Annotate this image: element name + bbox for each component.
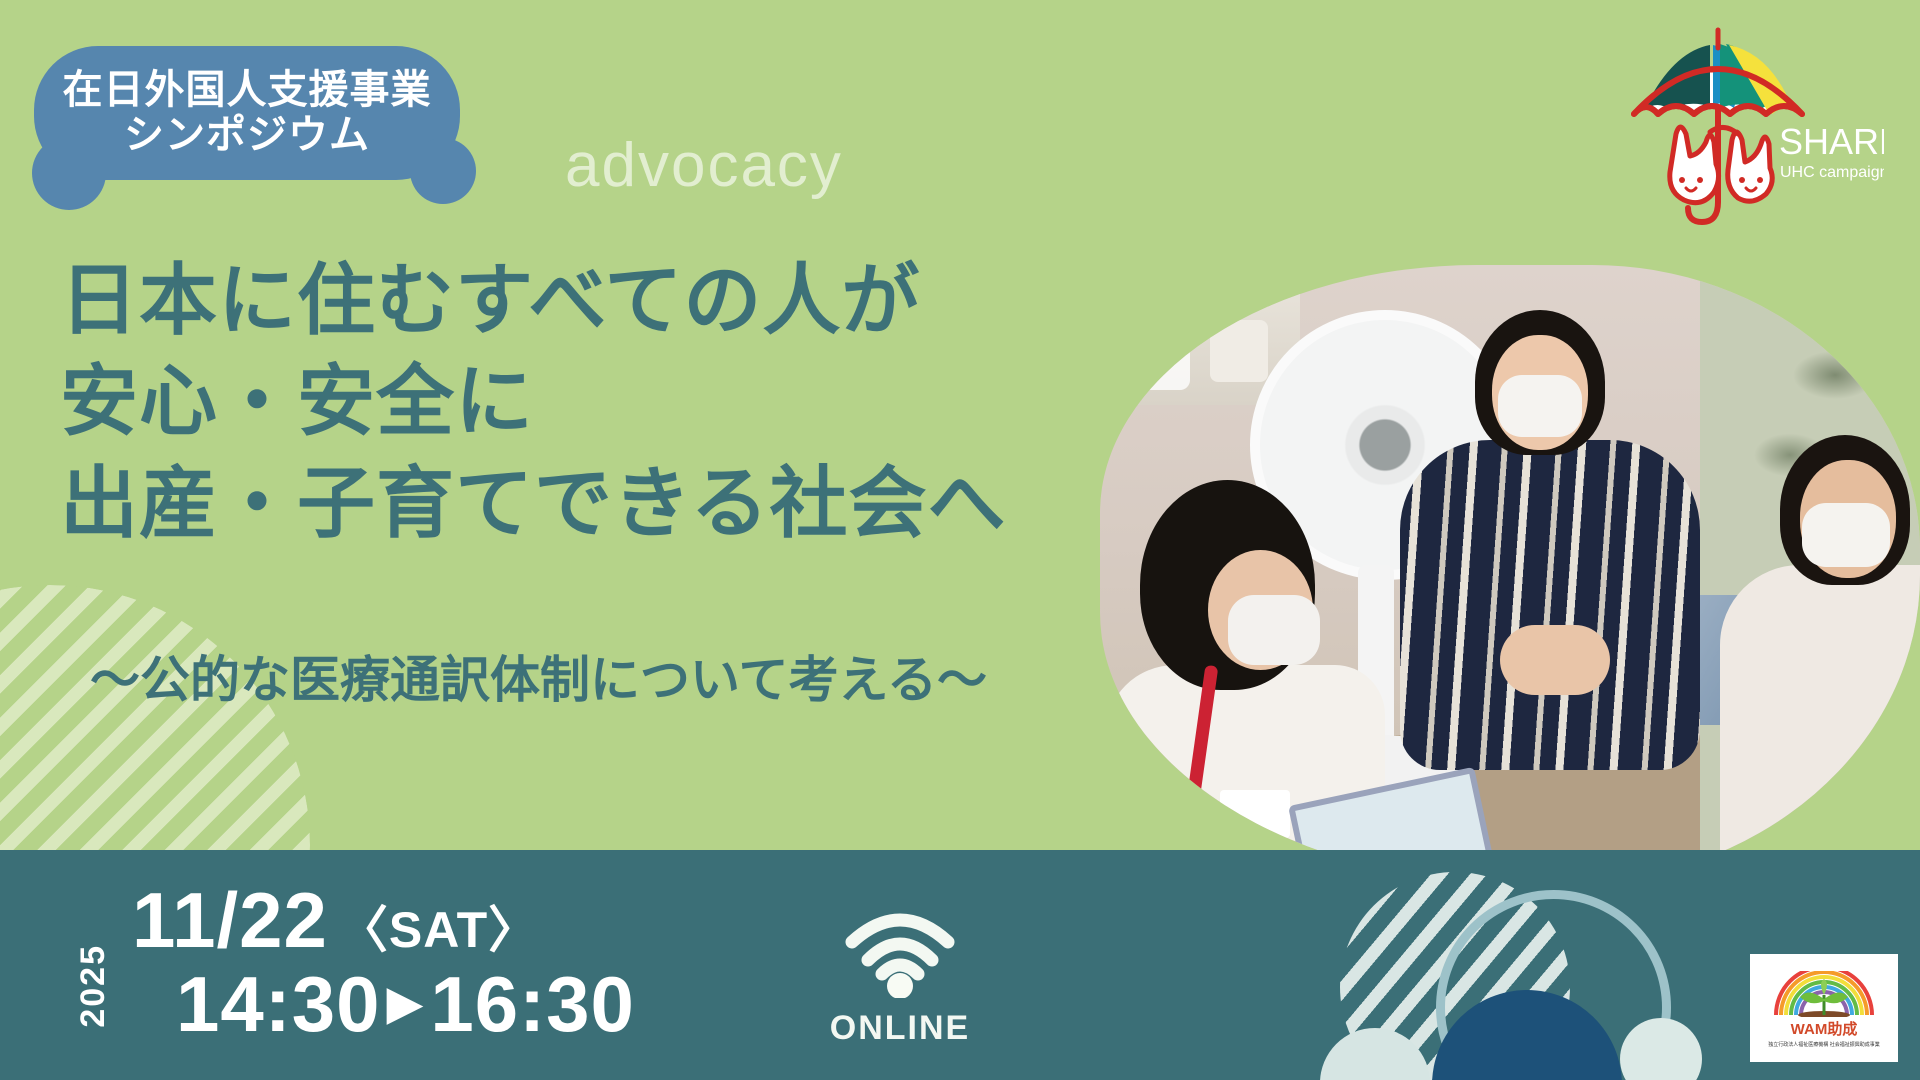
wam-logo: WAM助成 独立行政法人福祉医療機構 社会福祉振興助成事業 — [1750, 954, 1898, 1062]
share-tagline: UHC campaign — [1780, 164, 1884, 181]
photo-person-center-hands — [1500, 625, 1610, 695]
event-time-row: 14:30 ▶ 16:30 — [132, 962, 635, 1046]
photo-background — [1100, 265, 1920, 885]
share-wordmark: SHARE — [1779, 121, 1884, 162]
wam-mark: WAM — [1791, 1021, 1828, 1038]
wifi-icon — [844, 912, 956, 998]
share-umbrella-icon: SHARE UHC campaign — [1614, 22, 1884, 237]
event-photo — [1100, 265, 1920, 885]
page-subtitle: 〜公的な医療通訳体制について考える〜 — [90, 640, 987, 712]
event-time-end: 16:30 — [430, 962, 635, 1046]
event-date-row: 11/22 〈SAT〉 — [132, 880, 635, 962]
time-arrow-icon: ▶ — [387, 980, 425, 1028]
event-year: 2025 — [74, 944, 113, 1028]
photo-person-left-mask — [1228, 595, 1320, 665]
poster-canvas: 在日外国人支援事業 シンポジウム advocacy 日本に住むすべての人が 安心… — [0, 0, 1920, 1080]
photo-person-center-body — [1400, 440, 1700, 770]
photo-person-right-mask — [1802, 503, 1890, 567]
wam-logo-subtitle: 独立行政法人福祉医療機構 社会福祉振興助成事業 — [1768, 1041, 1879, 1048]
online-label: ONLINE — [795, 1009, 1005, 1048]
headline-line-1: 日本に住むすべての人が — [60, 250, 1006, 351]
page-title: 日本に住むすべての人が 安心・安全に 出産・子育てできる社会へ — [60, 250, 1006, 554]
event-day-of-week: 〈SAT〉 — [338, 904, 539, 957]
photo-cup — [1210, 320, 1268, 382]
photo-name-badge — [1220, 790, 1290, 838]
badge-line-1: 在日外国人支援事業 — [63, 68, 432, 113]
event-time-start: 14:30 — [176, 962, 381, 1046]
photo-person-center-mask — [1498, 375, 1582, 437]
event-date: 11/22 — [132, 880, 328, 962]
wam-grant-label: 助成 — [1827, 1021, 1857, 1038]
photo-person-right-body — [1720, 565, 1920, 885]
headline-line-2: 安心・安全に — [60, 351, 1006, 452]
share-logo: SHARE UHC campaign — [1614, 22, 1884, 237]
badge-line-2: シンポジウム — [124, 113, 370, 158]
event-category-badge: 在日外国人支援事業 シンポジウム — [34, 46, 460, 180]
headline-line-3: 出産・子育てできる社会へ — [60, 453, 1006, 554]
photo-bottle — [1130, 305, 1190, 390]
advocacy-word: advocacy — [565, 130, 843, 201]
online-info: ONLINE — [795, 912, 1005, 1048]
wam-logo-title: WAM助成 — [1791, 1018, 1858, 1039]
wam-rainbow-sprout-icon — [1770, 971, 1878, 1017]
event-datetime: 11/22 〈SAT〉 14:30 ▶ 16:30 — [132, 880, 635, 1046]
